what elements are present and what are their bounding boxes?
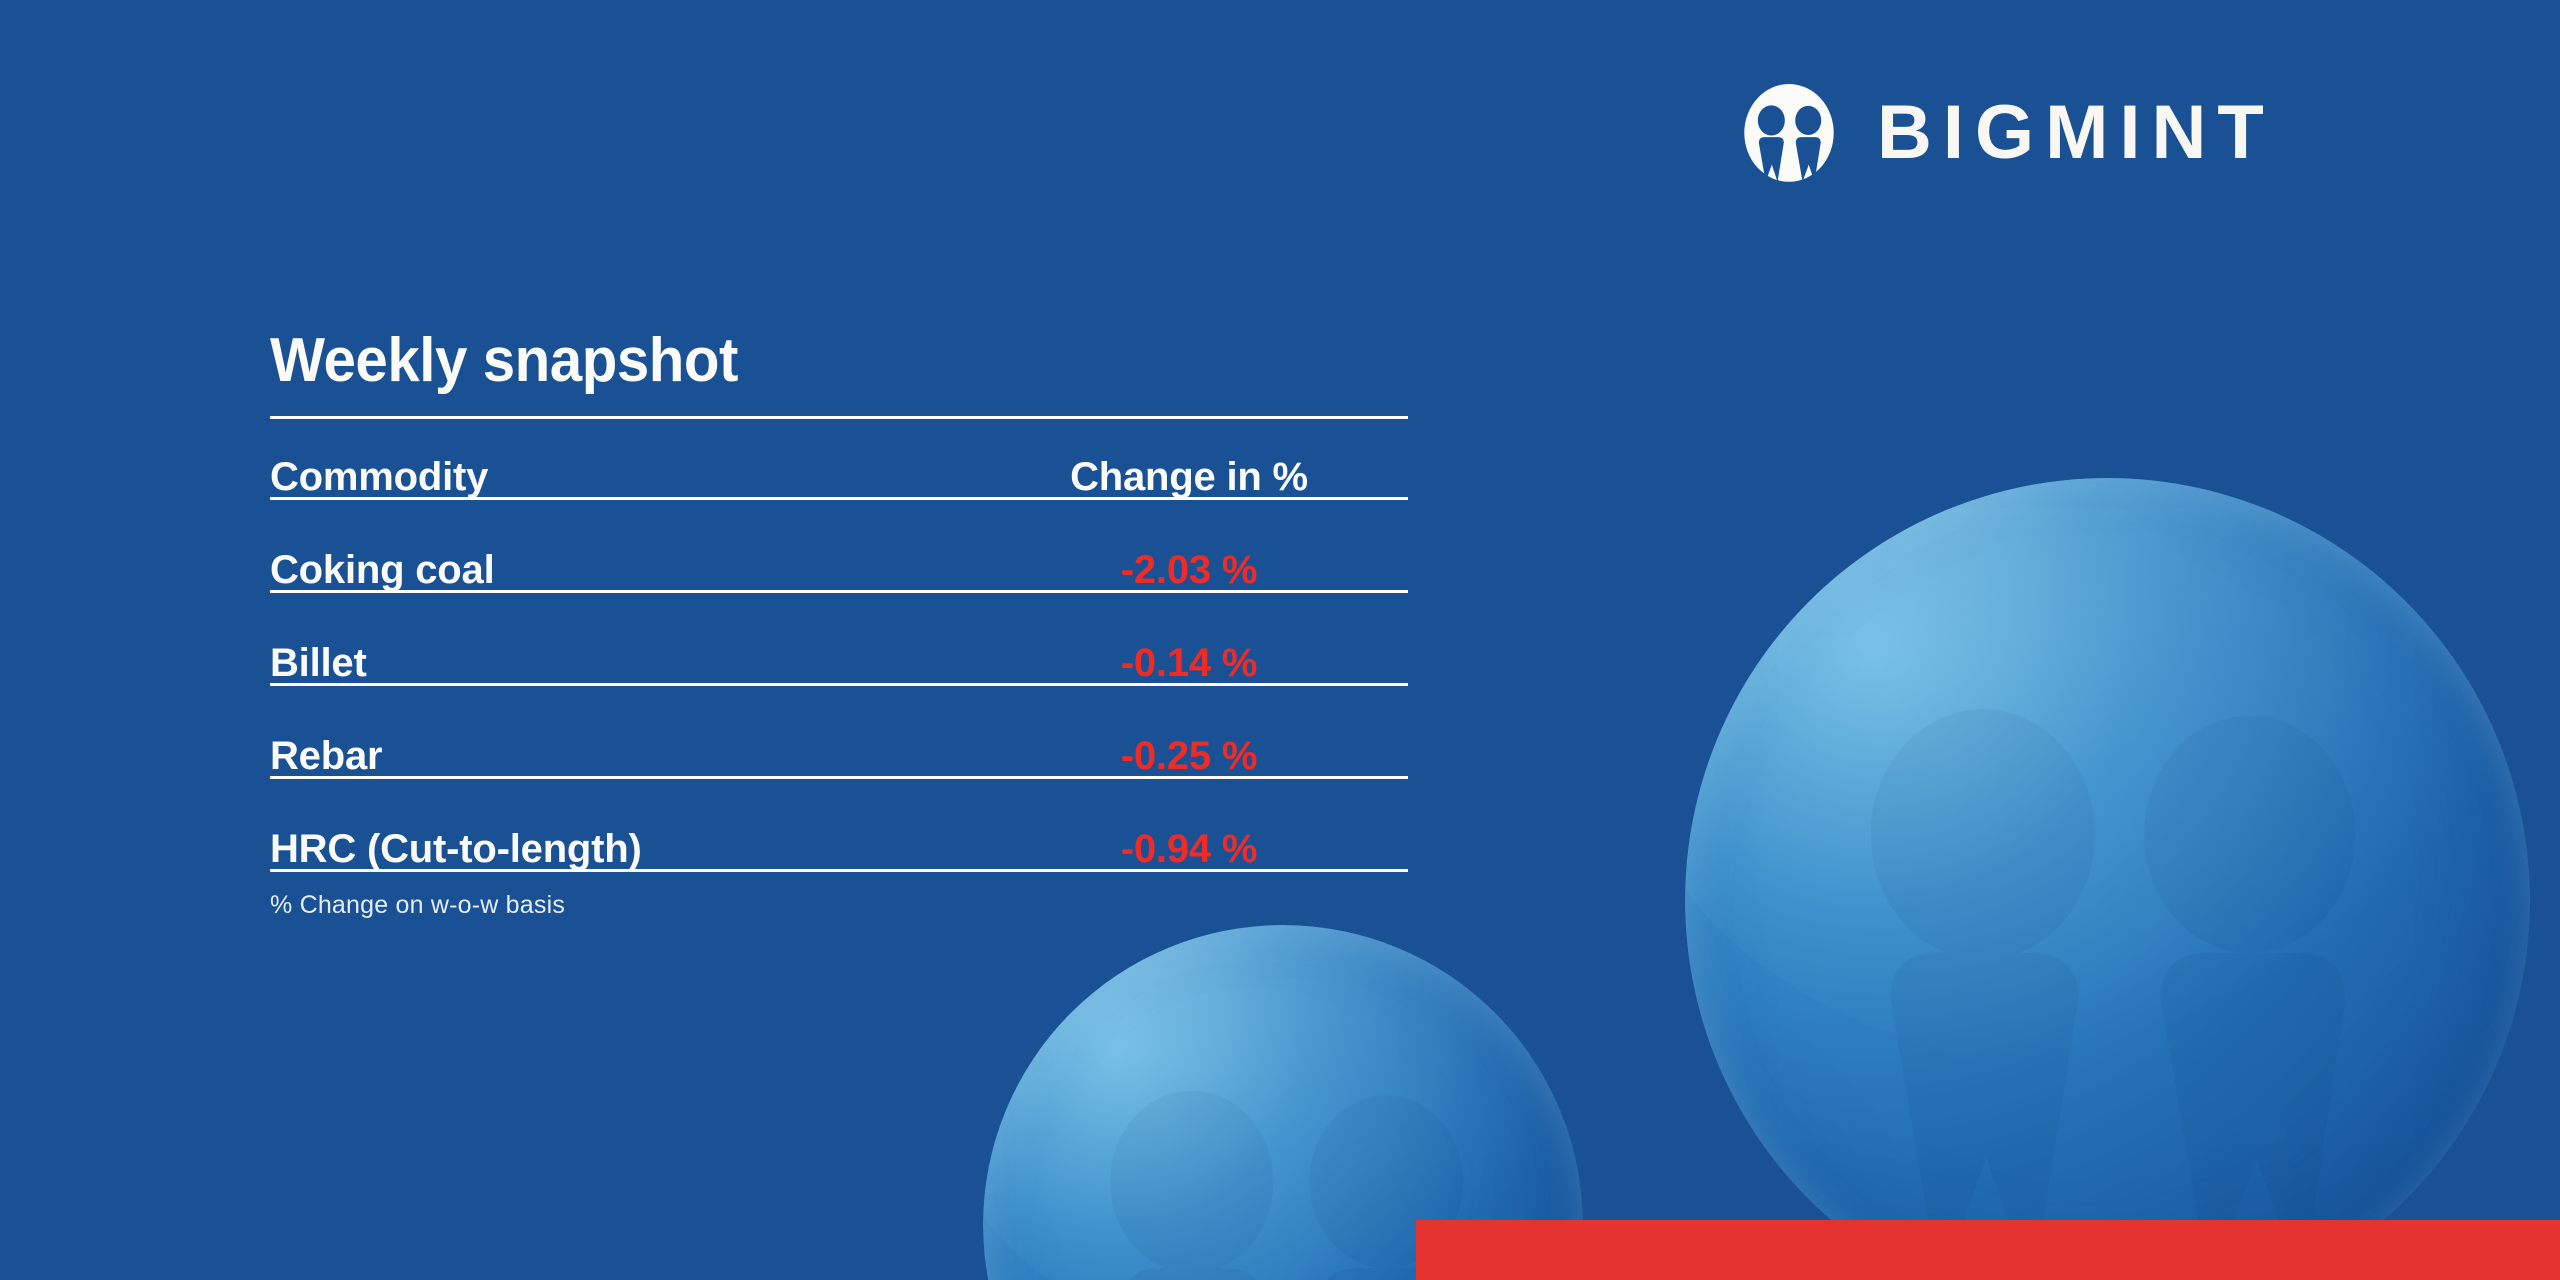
table-footnote: % Change on w-o-w basis [270,890,1408,920]
poster-canvas: BIGMINT Weekly snapshot Commodity Change… [0,0,2560,1280]
cell-commodity: HRC (Cut-to-length) [270,778,970,871]
cell-change: -2.03 % [970,499,1408,592]
cell-commodity: Rebar [270,685,970,778]
red-accent-bar [1416,1220,2560,1280]
column-header-change: Change in % [970,418,1408,499]
bigmint-mark-icon [1737,83,1841,187]
cell-change: -0.94 % [970,778,1408,871]
cell-change: -0.25 % [970,685,1408,778]
cell-commodity: Coking coal [270,499,970,592]
page-title: Weekly snapshot [270,330,1340,392]
column-header-commodity: Commodity [270,418,970,499]
table-row: Coking coal -2.03 % [270,499,1408,592]
weekly-snapshot-panel: Weekly snapshot Commodity Change in % Co… [270,330,1408,920]
brand-wordmark: BIGMINT [1877,95,2275,175]
sphere-rim-shading [1685,478,2530,1280]
snapshot-table: Commodity Change in % Coking coal -2.03 … [270,416,1408,872]
table-row: HRC (Cut-to-length) -0.94 % [270,778,1408,871]
table-header-row: Commodity Change in % [270,418,1408,499]
cell-commodity: Billet [270,592,970,685]
brand-logo: BIGMINT [1737,85,2275,185]
table-row: Billet -0.14 % [270,592,1408,685]
cell-change: -0.14 % [970,592,1408,685]
decorative-sphere-large [1685,478,2530,1280]
table-row: Rebar -0.25 % [270,685,1408,778]
